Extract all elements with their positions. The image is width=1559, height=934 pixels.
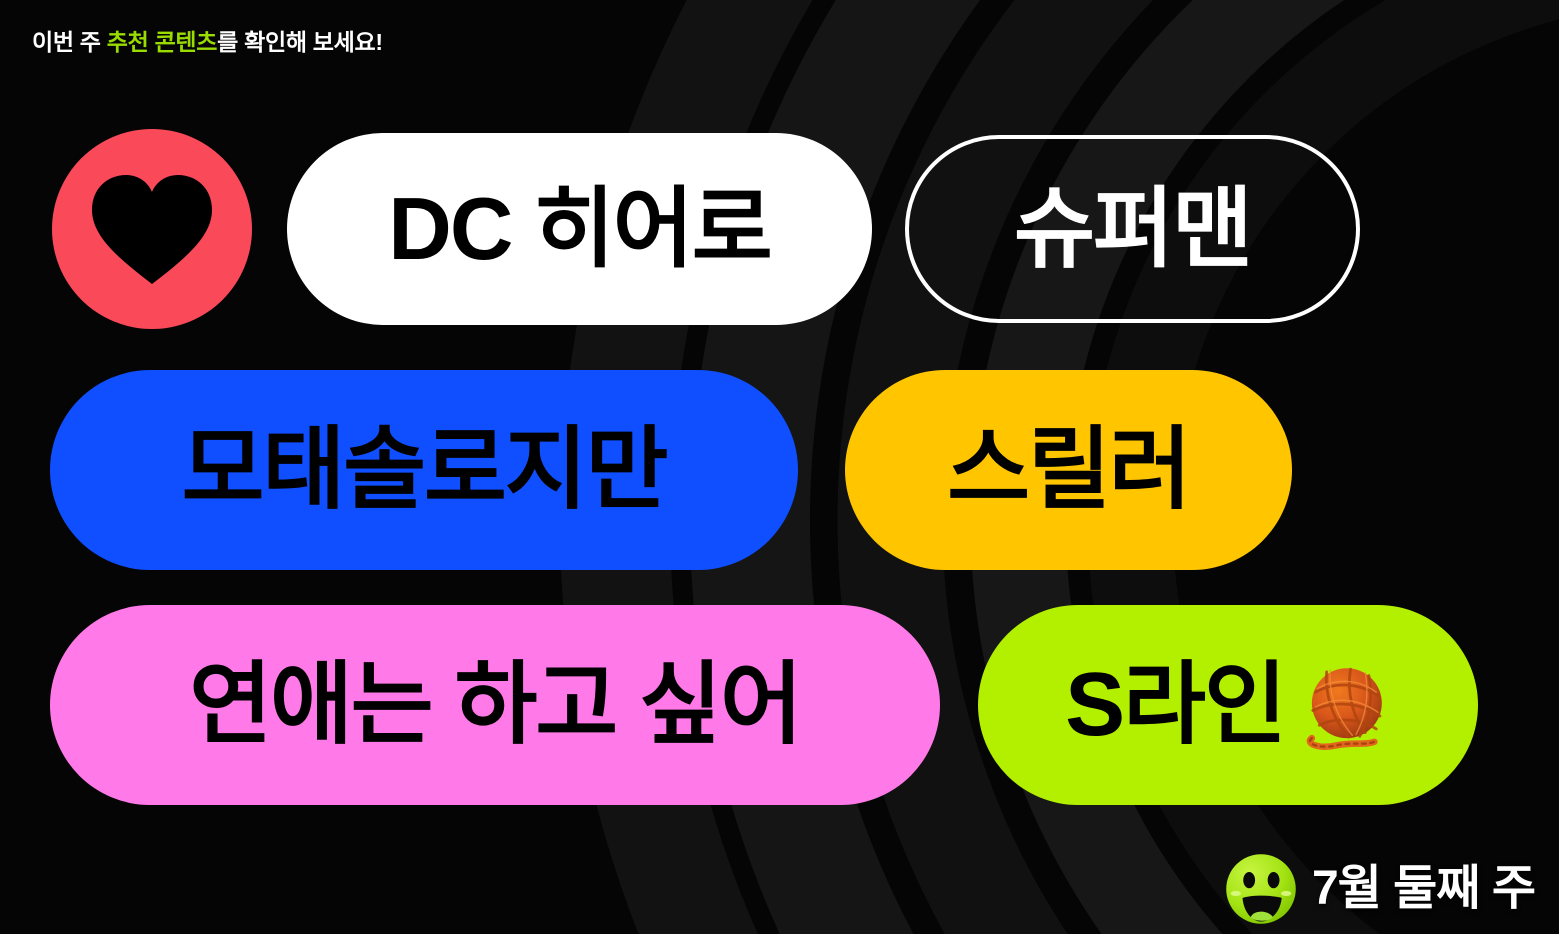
pill-dc-hero[interactable]: DC 히어로 (287, 133, 872, 325)
pill-superman[interactable]: 슈퍼맨 (905, 135, 1360, 323)
pill-yeonae-label: 연애는 하고 싶어 (189, 660, 801, 750)
pill-yeonae[interactable]: 연애는 하고 싶어 (50, 605, 940, 805)
pill-motaesolo-label: 모태솔로지만 (182, 425, 667, 515)
yarn-ball-icon (1299, 659, 1391, 751)
page-title: 이번 주 추천 콘텐츠를 확인해 보세요! (32, 31, 383, 54)
pill-sline[interactable]: S라인 (978, 605, 1478, 805)
pill-dc-hero-label: DC 히어로 (388, 185, 770, 273)
heart-badge (52, 129, 252, 329)
pill-thriller[interactable]: 스릴러 (845, 370, 1292, 570)
footer: 7월 둘째 주 (1224, 852, 1535, 926)
pill-superman-label: 슈퍼맨 (1014, 185, 1251, 273)
footer-date-label: 7월 둘째 주 (1312, 865, 1535, 913)
green-grinning-face-icon (1224, 852, 1298, 926)
pill-motaesolo[interactable]: 모태솔로지만 (50, 370, 798, 570)
header-highlight: 추천 콘텐츠 (107, 29, 217, 55)
header-text-after: 를 확인해 보세요! (217, 29, 383, 55)
pill-thriller-label: 스릴러 (947, 425, 1189, 515)
heart-icon (88, 170, 216, 288)
promo-poster: 이번 주 추천 콘텐츠를 확인해 보세요! DC 히어로 슈퍼맨 모태솔로지만 … (0, 0, 1559, 934)
header-text-before: 이번 주 (32, 29, 107, 55)
pill-sline-label: S라인 (1065, 660, 1285, 750)
